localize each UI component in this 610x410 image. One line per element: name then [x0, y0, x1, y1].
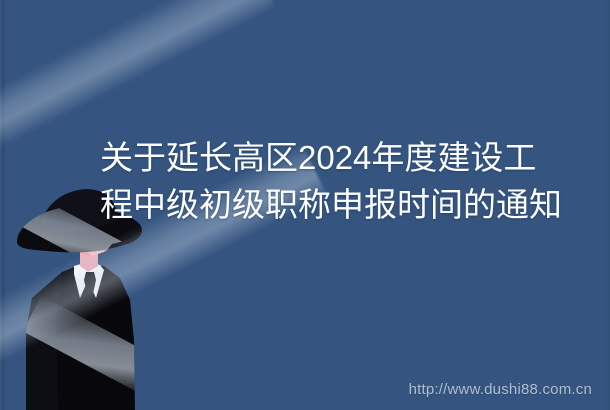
article-cover: 关于延长高区2024年度建设工 程中级初级职称申报时间的通知 http://ww…	[0, 0, 610, 410]
background-right-edge-shadow	[605, 0, 610, 410]
watermark-url: http://www.dushi88.com.cn	[409, 381, 592, 398]
title-line-1: 关于延长高区2024年度建设工	[100, 134, 570, 181]
cover-title: 关于延长高区2024年度建设工 程中级初级职称申报时间的通知	[100, 134, 570, 228]
suit-torso	[23, 264, 200, 410]
title-line-2: 程中级初级职称申报时间的通知	[100, 181, 570, 228]
